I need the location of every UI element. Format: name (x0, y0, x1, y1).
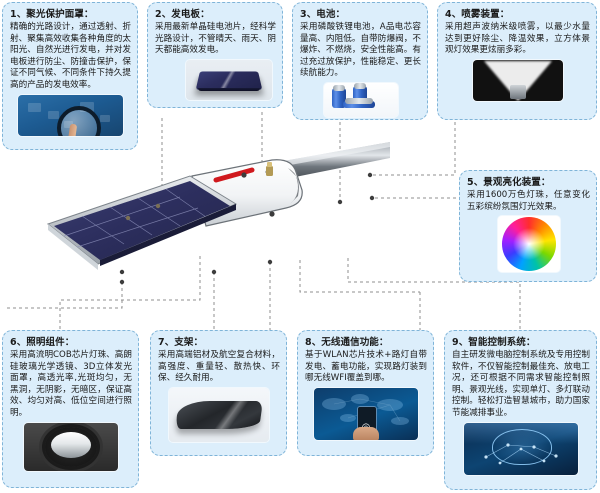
feature-card-9[interactable]: 9、智能控制系统： 自主研发微电脑控制系统及专用控制软件，不仅智能控制最佳充、放… (444, 330, 597, 490)
card-5-body: 采用1600万色灯珠，任意变化五彩缤纷氛围灯光效果。 (467, 190, 590, 213)
solar-cell-icon (186, 60, 272, 100)
led-lens-icon (24, 423, 118, 471)
card-4-title: 4、喷雾装置： (445, 8, 590, 21)
bracket-icon (169, 388, 269, 442)
mist-spray-icon (473, 60, 563, 101)
feature-card-5[interactable]: 5、景观亮化装置： 采用1600万色灯珠，任意变化五彩缤纷氛围灯光效果。 (459, 170, 597, 282)
card-6-title: 6、照明组件： (10, 336, 132, 349)
magnifier-icon (18, 95, 123, 136)
card-7-title: 7、支架： (158, 336, 280, 349)
card-1-body: 精确的光路设计，通过透射、折射、聚集高效收集各种角度的太阳光、自然光进行发电，并… (10, 22, 131, 92)
product-solar-street-lamp (40, 138, 390, 288)
mist-nozzle (266, 162, 273, 176)
screw (156, 204, 160, 208)
feature-card-7[interactable]: 7、支架： 采用高端铝材及航空复合材料，高强度、重量轻、散热快、环保、经久耐用。 (150, 330, 287, 456)
feature-card-8[interactable]: 8、无线通信功能： 基于WLAN芯片技术+路灯自带发电、蓄电功能，实现路灯装到哪… (297, 330, 434, 456)
card-5-title: 5、景观亮化装置： (467, 176, 590, 189)
card-9-body: 自主研发微电脑控制系统及专用控制软件，不仅智能控制最佳充、放电工况，还可根据不同… (452, 350, 590, 420)
screw (241, 172, 246, 177)
card-2-body: 采用最新单晶硅电池片，经科学光路设计，不管晴天、雨天、阴天都能高效发电。 (155, 22, 276, 57)
card-7-body: 采用高端铝材及航空复合材料，高强度、重量轻、散热快、环保、经久耐用。 (158, 350, 280, 385)
card-8-body: 基于WLAN芯片技术+路灯自带发电、蓄电功能，实现路灯装到哪无线WFI覆盖到哪。 (305, 350, 427, 385)
screw (269, 211, 274, 216)
card-3-body: 采用磷酸铁锂电池，A品电芯容量高、内阻低。自带防爆阀，不爆炸、不燃烧，安全性能高… (300, 22, 421, 80)
color-wheel-icon (498, 216, 560, 272)
battery-icon (324, 83, 398, 117)
card-4-body: 采用超声波纳米级喷雾，以最少水量达到更好除尘、降温效果，立方体景观灯效果更炫丽多… (445, 22, 590, 57)
feature-card-1[interactable]: 1、聚光保护面罩： 精确的光路设计，通过透射、折射、聚集高效收集各种角度的太阳光… (2, 2, 138, 150)
feature-card-2[interactable]: 2、发电板： 采用最新单晶硅电池片，经科学光路设计，不管晴天、雨天、阴天都能高效… (147, 2, 283, 108)
infographic-canvas: 1、聚光保护面罩： 精确的光路设计，通过透射、折射、聚集高效收集各种角度的太阳光… (0, 0, 600, 493)
screw (126, 216, 130, 220)
feature-card-3[interactable]: 3、电池： 采用磷酸铁锂电池，A品电芯容量高、内阻低。自带防爆阀，不爆炸、不燃烧… (292, 2, 428, 120)
card-9-title: 9、智能控制系统： (452, 336, 590, 349)
feature-card-4[interactable]: 4、喷雾装置： 采用超声波纳米级喷雾，以最少水量达到更好除尘、降温效果，立方体景… (437, 2, 597, 120)
card-3-title: 3、电池： (300, 8, 421, 21)
card-8-title: 8、无线通信功能： (305, 336, 427, 349)
card-6-body: 采用高流明COB芯片灯珠、高朗硅玻璃光学透镜、3D立体发光面罩，高透光率,光斑均… (10, 350, 132, 420)
card-1-title: 1、聚光保护面罩： (10, 8, 131, 21)
screw (120, 270, 124, 274)
card-2-title: 2、发电板： (155, 8, 276, 21)
smart-city-icon (464, 423, 578, 475)
feature-card-6[interactable]: 6、照明组件： 采用高流明COB芯片灯珠、高朗硅玻璃光学透镜、3D立体发光面罩，… (2, 330, 139, 488)
wifi-network-icon: ◎ (314, 388, 418, 440)
